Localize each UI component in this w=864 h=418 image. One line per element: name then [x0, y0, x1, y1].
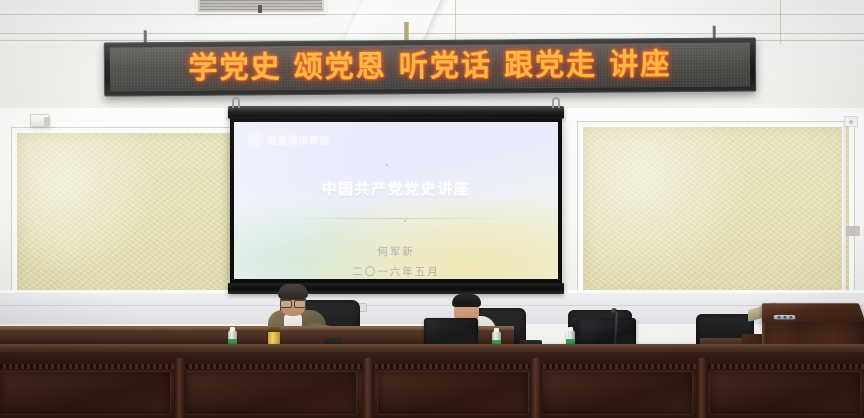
- screen-hook-left: [232, 97, 240, 108]
- led-banner-text: 学党史 颂党恩 听党话 跟党走 讲座: [188, 50, 671, 84]
- dais-vertical-divider: [530, 358, 542, 418]
- dais-vertical-divider: [362, 358, 374, 418]
- projection-screen-assembly: 湖南城市学院 中国共产党党史讲座 何军新 二〇一六年五月: [228, 106, 564, 296]
- presentation-slide: 湖南城市学院 中国共产党党史讲座 何军新 二〇一六年五月: [234, 122, 558, 279]
- lectern-top-surface: [762, 303, 864, 324]
- university-logo: 湖南城市学院: [248, 132, 330, 147]
- dais-front-panel: [0, 352, 864, 418]
- speaker-left-hair: [278, 284, 308, 299]
- slide-divider-rule: [280, 218, 512, 219]
- dais-bead-trim: [0, 364, 864, 369]
- dais-panel-segment: [0, 372, 170, 414]
- slide-author: 何军新: [234, 244, 558, 259]
- led-display-surface: 学党史 颂党恩 听党话 跟党走 讲座: [110, 42, 750, 91]
- slide-date: 二〇一六年五月: [234, 264, 558, 279]
- wall-bracket: [846, 226, 860, 236]
- wall-speaker-side: [44, 117, 50, 126]
- led-scrolling-banner: 学党史 颂党恩 听党话 跟党走 讲座: [104, 37, 756, 96]
- wall-speaker-box: [30, 114, 49, 127]
- wainscot-line: [0, 305, 864, 306]
- bottle-cap: [494, 328, 499, 332]
- bottle-cap: [230, 327, 235, 331]
- screen-border: 湖南城市学院 中国共产党党史讲座 何军新 二〇一六年五月: [230, 118, 562, 283]
- wall-panel-left: [12, 128, 238, 304]
- dais-panel-segment: [710, 372, 860, 414]
- vent-knob: [258, 5, 262, 13]
- dais-panel-segment: [378, 372, 528, 414]
- dais-panel-segment: [186, 372, 356, 414]
- screen-speck: [404, 220, 406, 222]
- wall-panel-right: [578, 122, 854, 302]
- wall-plate-screw: [849, 120, 853, 124]
- thermos-lid: [268, 327, 280, 332]
- ceiling-seam: [0, 33, 864, 34]
- ceiling-air-vent: [196, 0, 326, 14]
- microphone-head-icon: [611, 308, 617, 314]
- lectern-button[interactable]: [783, 316, 786, 319]
- screen-speck: [386, 164, 388, 166]
- ceiling-seam-vertical: [455, 0, 456, 44]
- slide-title: 中国共产党党史讲座: [234, 178, 558, 199]
- seal-icon: [248, 132, 263, 147]
- glasses-icon: [280, 299, 306, 305]
- door-frame-edge: [842, 122, 846, 304]
- dais-vertical-divider: [174, 358, 186, 418]
- lectern-control-panel[interactable]: [774, 315, 796, 319]
- wall-plate: [844, 116, 858, 127]
- bottle-cap: [568, 327, 573, 331]
- speaker-center-hair: [452, 294, 481, 307]
- lecture-hall-photo: 学党史 颂党恩 听党话 跟党走 讲座 湖南城市学院 中国共产党党史讲座 何军新 …: [0, 0, 864, 418]
- lectern-button[interactable]: [778, 316, 781, 319]
- dais-vertical-divider: [696, 358, 708, 418]
- dais-panel-segment: [542, 372, 692, 414]
- ceiling-seam-vertical: [780, 0, 781, 44]
- lectern-button[interactable]: [789, 316, 792, 319]
- screen-hook-right: [552, 97, 560, 108]
- university-logo-text: 湖南城市学院: [267, 133, 330, 147]
